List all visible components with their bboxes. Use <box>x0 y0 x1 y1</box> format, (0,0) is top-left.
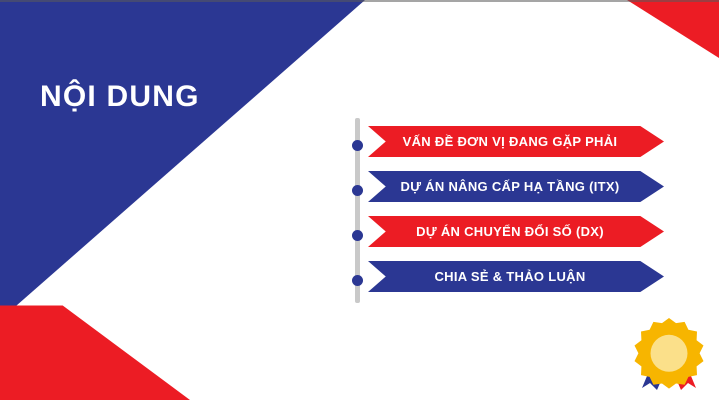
top-edge-divider <box>0 0 719 2</box>
red-corner-triangle <box>627 0 719 58</box>
slide-canvas: NỘI DUNG VẤN ĐỀ ĐƠN VỊ ĐANG GẶP PHẢI DỰ … <box>0 0 719 400</box>
agenda-item-label: CHIA SẺ & THẢO LUẬN <box>434 269 585 284</box>
timeline-dot-4 <box>352 275 363 286</box>
agenda-chevron-2[interactable]: DỰ ÁN NÂNG CẤP HẠ TẦNG (ITX) <box>368 171 664 202</box>
agenda-chevron-1[interactable]: VẤN ĐỀ ĐƠN VỊ ĐANG GẶP PHẢI <box>368 126 664 157</box>
timeline-dot-2 <box>352 185 363 196</box>
red-wedge-shape <box>0 250 190 400</box>
timeline-dot-3 <box>352 230 363 241</box>
page-title: NỘI DUNG <box>40 80 200 114</box>
agenda-chevron-3[interactable]: DỰ ÁN CHUYỂN ĐỔI SỐ (DX) <box>368 216 664 247</box>
award-rosette-icon <box>630 312 708 392</box>
blue-wedge-shape <box>0 0 365 320</box>
agenda-item-label: VẤN ĐỀ ĐƠN VỊ ĐANG GẶP PHẢI <box>403 134 618 149</box>
rosette-center <box>651 335 688 372</box>
agenda-item-label: DỰ ÁN NÂNG CẤP HẠ TẦNG (ITX) <box>401 179 620 194</box>
timeline-dot-1 <box>352 140 363 151</box>
agenda-chevron-4[interactable]: CHIA SẺ & THẢO LUẬN <box>368 261 664 292</box>
agenda-item-label: DỰ ÁN CHUYỂN ĐỔI SỐ (DX) <box>416 224 604 239</box>
